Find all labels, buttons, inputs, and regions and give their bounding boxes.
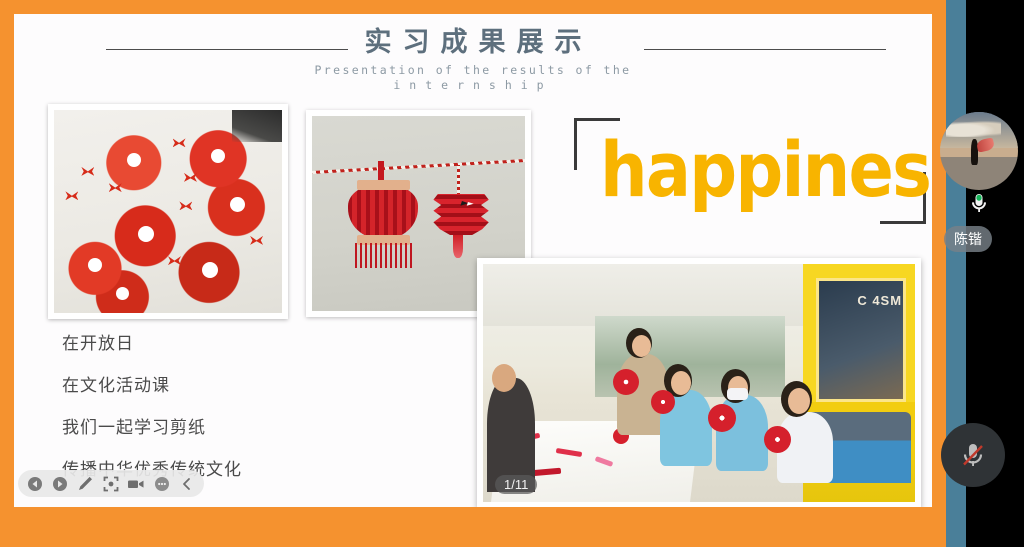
butterfly-cutout	[109, 183, 122, 192]
butterfly-cutout	[81, 167, 94, 176]
pencil-icon[interactable]	[76, 474, 95, 494]
video-icon[interactable]	[127, 474, 146, 494]
flower-center	[202, 262, 218, 278]
paper-cut-rosette	[613, 369, 639, 395]
page-title: 实习成果展示	[14, 26, 932, 60]
lantern-round	[348, 184, 418, 239]
slide-subtitle-line2: internship	[14, 78, 932, 93]
avatar[interactable]	[940, 112, 1018, 190]
lantern-cord	[457, 165, 460, 196]
slide-subtitle: Presentation of the results of the inter…	[14, 63, 932, 93]
paper-cut-rosette	[764, 426, 791, 453]
flower-center	[88, 258, 102, 272]
page-indicator: 1/11	[495, 475, 537, 494]
slide-frame: 实习成果展示 Presentation of the results of th…	[0, 0, 946, 547]
banner-word: happiness	[600, 128, 890, 212]
butterfly-cutout	[184, 173, 197, 182]
butterfly-cutout	[65, 191, 78, 200]
flower-center	[127, 153, 141, 167]
face-mask	[727, 388, 748, 400]
caption-line: 在文化活动课	[62, 374, 392, 398]
slide-canvas: 实习成果展示 Presentation of the results of th…	[14, 14, 932, 507]
play-icon[interactable]	[50, 474, 69, 494]
photo-paper-cutting-flowers	[48, 104, 288, 319]
chevron-left-icon[interactable]	[178, 474, 197, 494]
caption-line: 在开放日	[62, 332, 392, 356]
presentation-toolbar[interactable]	[18, 470, 204, 497]
person-head	[492, 364, 516, 392]
screenshot-icon[interactable]	[101, 474, 120, 494]
flower-center	[138, 226, 154, 242]
photo-classroom-activity: C 4SM	[477, 258, 921, 507]
happiness-banner: happiness	[570, 114, 930, 226]
slide-subtitle-line1: Presentation of the results of the	[14, 63, 932, 78]
slide-title-block: 实习成果展示 Presentation of the results of th…	[14, 26, 932, 93]
person-face	[788, 388, 810, 414]
paper-cut-rosette	[708, 404, 736, 432]
classroom-sign: C 4SM	[857, 293, 902, 308]
flower-center	[116, 287, 129, 300]
butterfly-cutout	[250, 236, 263, 245]
butterfly-cutout	[179, 201, 192, 210]
microphone-active-icon	[966, 190, 992, 216]
previous-icon[interactable]	[25, 474, 44, 494]
paper-cutting-image	[54, 110, 282, 313]
more-icon[interactable]	[152, 474, 171, 494]
hanging-cord	[312, 159, 525, 174]
avatar-clouds	[946, 120, 1001, 137]
mute-microphone-button[interactable]	[941, 423, 1005, 487]
lantern-fringe	[355, 243, 415, 268]
butterfly-cutout	[173, 138, 186, 147]
caption-line: 我们一起学习剪纸	[62, 416, 392, 440]
lantern-rim-top	[357, 180, 410, 190]
participant-name: 陈锴	[944, 226, 992, 252]
butterfly-cutout	[168, 256, 181, 265]
photo-shadow-edge	[232, 110, 282, 142]
flower-center	[211, 149, 225, 163]
participant-tile[interactable]	[940, 112, 1018, 190]
lantern-tassel	[453, 235, 464, 258]
meeting-screen-share: 实习成果展示 Presentation of the results of th…	[0, 0, 1024, 547]
classroom-image: C 4SM	[483, 264, 915, 502]
flower-center	[230, 197, 245, 212]
